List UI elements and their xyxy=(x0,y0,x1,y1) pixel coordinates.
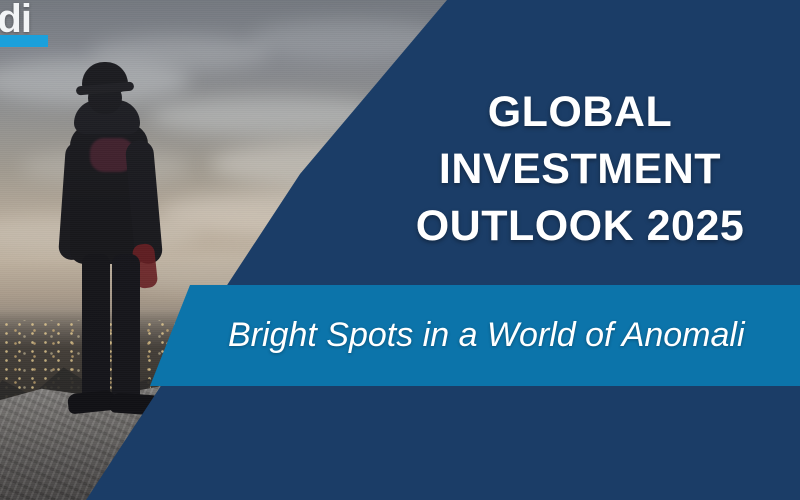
title-line-3: OUTLOOK 2025 xyxy=(370,198,790,255)
title-slide: GLOBAL INVESTMENT OUTLOOK 2025 Bright Sp… xyxy=(0,0,800,500)
page-title: GLOBAL INVESTMENT OUTLOOK 2025 xyxy=(370,84,790,255)
title-line-1: GLOBAL xyxy=(370,84,790,141)
brand-logo[interactable]: ndi xyxy=(0,0,56,52)
brand-logo-bar xyxy=(0,35,48,47)
title-line-2: INVESTMENT xyxy=(370,141,790,198)
page-subtitle: Bright Spots in a World of Anomali xyxy=(228,313,745,357)
